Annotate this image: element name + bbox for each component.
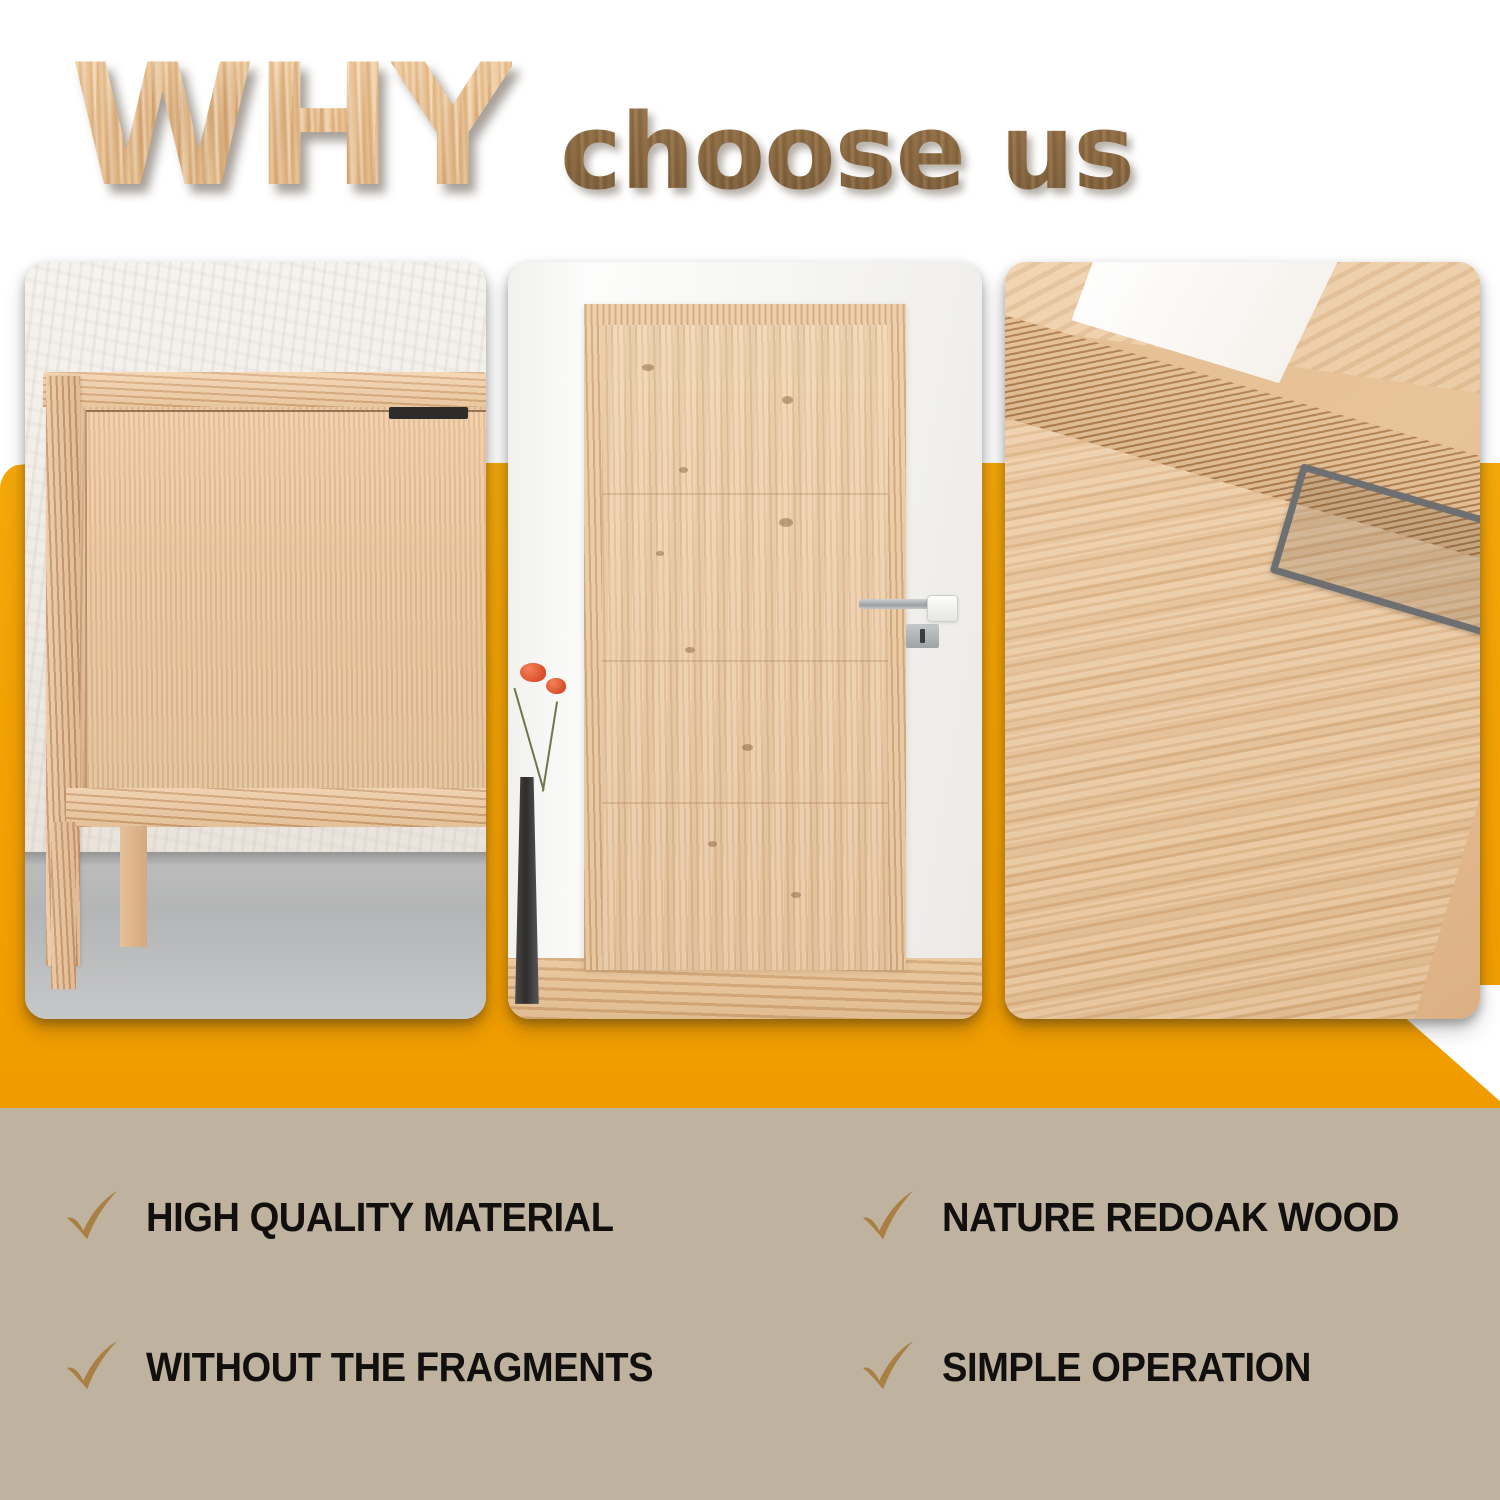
cabinet-leg-front: [51, 822, 76, 989]
light-switch: [927, 595, 958, 622]
gallery-card-oak-drawer-edge[interactable]: [1005, 262, 1480, 1019]
feature-list: [0, 1108, 1500, 1500]
feature-item-nature-redoak-wood: NATURE REDOAK WOOD: [858, 1186, 1433, 1248]
check-icon: [858, 1336, 920, 1398]
gallery-card-oak-sideboard[interactable]: [25, 262, 486, 1019]
oak-drawer-edge-photo: [1005, 262, 1480, 1019]
oak-sideboard-photo: [25, 262, 486, 1019]
poppy-flower-right: [546, 678, 566, 694]
oak-door-photo: [508, 262, 982, 1019]
cabinet-leg-back: [120, 826, 148, 947]
cabinet-bottom-rail: [66, 788, 486, 827]
check-icon: [62, 1336, 124, 1398]
cabinet-top-board: [43, 372, 486, 407]
feature-label: HIGH QUALITY MATERIAL: [146, 1194, 614, 1241]
why-choose-us-banner: WHY choose us: [0, 0, 1500, 1500]
door-frame: [584, 304, 906, 970]
door-lock-escutcheon: [906, 624, 939, 648]
feature-label: NATURE REDOAK WOOD: [942, 1194, 1399, 1241]
poppy-flower-left: [520, 663, 546, 682]
check-icon: [62, 1186, 124, 1248]
feature-label: WITHOUT THE FRAGMENTS: [146, 1344, 653, 1391]
check-icon: [858, 1186, 920, 1248]
feature-item-simple-operation: SIMPLE OPERATION: [858, 1336, 1339, 1398]
cabinet-bar-handle: [389, 407, 467, 418]
gallery-card-oak-door[interactable]: [508, 262, 982, 1019]
oak-door-leaf: [602, 325, 889, 970]
feature-label: SIMPLE OPERATION: [942, 1344, 1311, 1391]
feature-item-without-the-fragments: WITHOUT THE FRAGMENTS: [62, 1336, 691, 1398]
cabinet-door-panel: [85, 410, 486, 789]
feature-item-high-quality-material: HIGH QUALITY MATERIAL: [62, 1186, 649, 1248]
concrete-floor: [25, 852, 486, 1019]
